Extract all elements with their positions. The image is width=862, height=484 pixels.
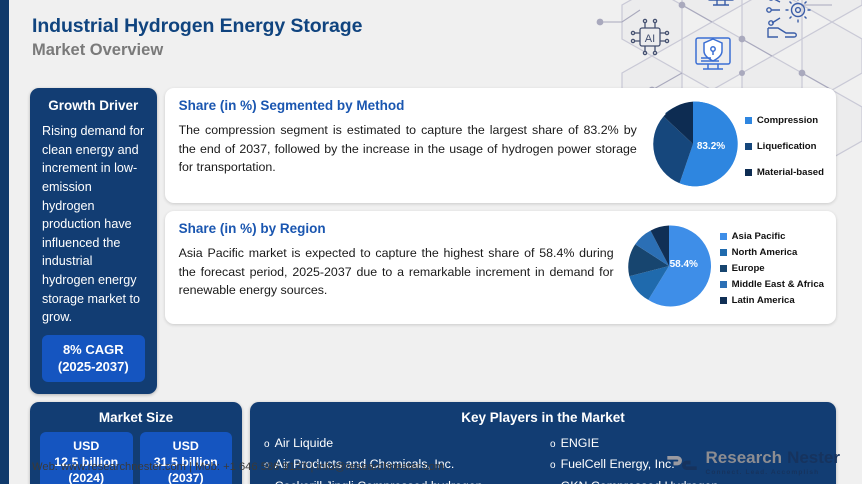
page-subtitle: Market Overview [32,40,362,61]
header: Industrial Hydrogen Energy Storage Marke… [32,14,362,62]
share-by-region-title: Share (in %) by Region [179,221,614,236]
circle-bullet-icon: o [550,461,556,471]
svg-text:AI: AI [645,33,655,45]
growth-driver-text: Rising demand for clean energy and incre… [42,122,145,327]
list-item: o Air Liquide [264,434,536,453]
region-pie-legend: Asia Pacific North America Europe [720,231,824,306]
key-players-heading: Key Players in the Market [264,410,822,425]
gear-hand-icon [767,0,811,37]
legend-label: Material-based [757,167,824,178]
region-pie-wrap: 58.4% [624,221,714,316]
legend-item: Middle East & Africa [720,279,824,290]
legend-swatch-icon [745,117,752,124]
cagr-value: 8% CAGR [46,342,141,359]
ai-chip-icon: AI [631,19,668,54]
infographic-root: AI [0,0,862,484]
key-player-name: ENGIE [561,434,600,453]
logo-mark-icon [665,451,699,475]
market-size-heading: Market Size [40,410,232,425]
growth-driver-panel: Growth Driver Rising demand for clean en… [30,88,157,394]
cagr-badge: 8% CAGR (2025-2037) [42,335,145,382]
legend-swatch-icon [745,169,752,176]
legend-label: Latin America [732,295,795,306]
legend-label: Europe [732,263,765,274]
content-board: Growth Driver Rising demand for clean en… [30,88,836,484]
key-player-name: Cockerill Jingli Compressed hydrogen [275,477,483,484]
legend-item: Asia Pacific [720,231,824,242]
share-by-region-body: Asia Pacific market is expected to captu… [179,244,614,300]
legend-label: North America [732,247,798,258]
legend-swatch-icon [720,281,727,288]
key-player-name: FuelCell Energy, Inc. [561,455,675,474]
logo-word-research: Research [706,449,783,466]
list-item: o Cockerill Jingli Compressed hydrogen [264,477,536,484]
legend-swatch-icon [720,297,727,304]
legend-item: Latin America [720,295,824,306]
share-by-method-title: Share (in %) Segmented by Method [179,98,637,113]
share-by-method-body: The compression segment is estimated to … [179,121,637,177]
share-by-method-chart-area: 83.2% Compression Liquefication [647,98,836,195]
legend-swatch-icon [745,143,752,150]
share-by-method-card: Share (in %) Segmented by Method The com… [165,88,836,203]
legend-label: Asia Pacific [732,231,786,242]
cagr-period: (2025-2037) [46,359,141,376]
share-by-method-text-block: Share (in %) Segmented by Method The com… [165,98,647,195]
legend-label: Compression [757,115,818,126]
method-pie-legend: Compression Liquefication Material-based [745,115,824,178]
left-accent-strip [0,0,9,484]
legend-item: North America [720,247,824,258]
market-size-box-2024: USD 12.5 billion (2024) [40,432,133,484]
share-by-region-chart-area: 58.4% Asia Pacific North America [624,221,836,316]
region-pie-chart [624,221,714,311]
legend-swatch-icon [720,249,727,256]
legend-label: Middle East & Africa [732,279,824,290]
circle-bullet-icon: o [550,440,556,450]
legend-item: Liquefication [745,141,824,152]
shield-monitor-icon [696,38,730,69]
key-player-name: GKN Compressed Hydrogen [561,477,719,484]
market-size-box-2037: USD 31.5 billion (2037) [140,432,233,484]
method-pie-wrap: 83.2% [647,98,739,195]
legend-swatch-icon [720,265,727,272]
cube-monitor-icon [683,0,734,5]
legend-item: Europe [720,263,824,274]
market-size-currency: USD [42,438,131,454]
legend-item: Compression [745,115,824,126]
market-size-boxes: USD 12.5 billion (2024) USD 31.5 billion… [40,432,232,484]
logo-tagline: Connect. Lead. Accomplish [706,469,840,476]
logo-word-nester: Nester [787,449,840,466]
market-size-currency: USD [142,438,231,454]
share-by-region-text-block: Share (in %) by Region Asia Pacific mark… [165,221,624,316]
legend-swatch-icon [720,233,727,240]
share-by-region-card: Share (in %) by Region Asia Pacific mark… [165,211,836,324]
region-pie-data-label: 58.4% [670,259,698,270]
top-row: Growth Driver Rising demand for clean en… [30,88,836,394]
legend-label: Liquefication [757,141,817,152]
list-item: o GKN Compressed Hydrogen [550,477,822,484]
method-pie-data-label: 83.2% [697,141,725,152]
growth-driver-heading: Growth Driver [42,98,145,113]
page-title: Industrial Hydrogen Energy Storage [32,14,362,38]
share-cards-column: Share (in %) Segmented by Method The com… [165,88,836,394]
key-player-name: Air Liquide [275,434,334,453]
footer-contact: Web: www.researchnester.com | Mob: +1 64… [32,461,444,473]
research-nester-logo: Research Nester Connect. Lead. Accomplis… [665,449,840,476]
legend-item: Material-based [745,167,824,178]
circle-bullet-icon: o [264,440,270,450]
